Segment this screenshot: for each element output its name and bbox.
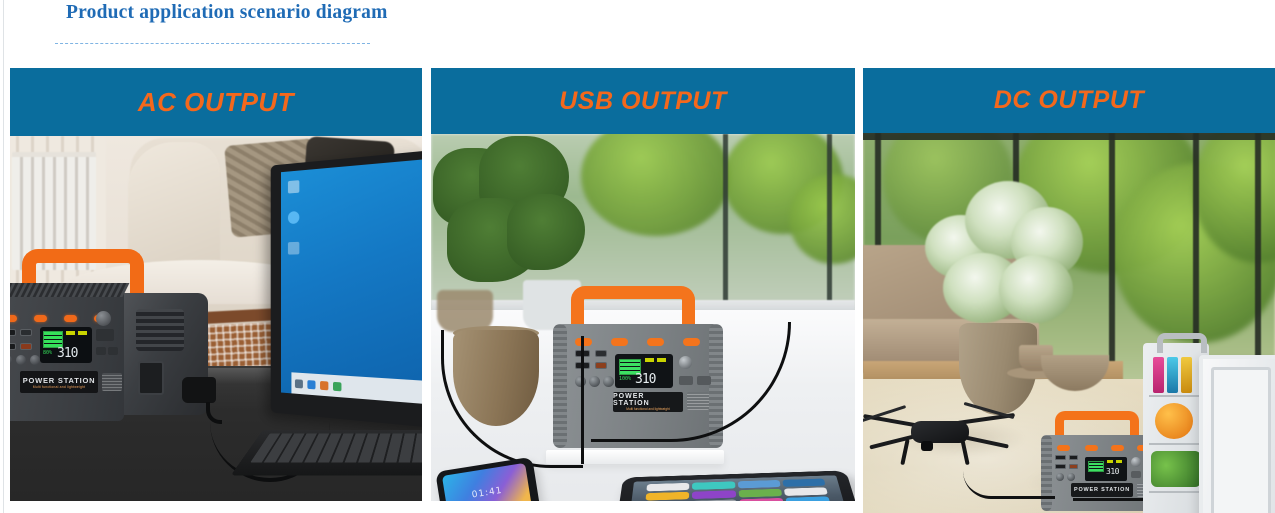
fridge-shelf-3: [1149, 491, 1203, 493]
label-icon-2: [96, 347, 106, 355]
phone-clock: 01:41: [471, 486, 503, 501]
desktop-icon-2: [288, 211, 299, 224]
laptop-lid: [271, 149, 422, 428]
drone-camera: [921, 441, 933, 451]
taskbar-icon-app: [333, 381, 341, 391]
desktop-icon-3: [288, 242, 299, 255]
tablet-app-icon: [692, 481, 735, 490]
tablet-app-icon: [645, 492, 689, 501]
drone-leg-1: [900, 439, 909, 465]
drone-leg-2: [960, 439, 969, 465]
drink-can-2: [1167, 357, 1178, 393]
taskbar-icon-start: [295, 379, 303, 388]
scene-image-dc-output: 310 POWER STATION: [863, 133, 1275, 513]
page-left-rule: [3, 0, 4, 513]
dc-cable-left: [963, 471, 1055, 499]
lcd-display: 80% 310: [40, 327, 92, 363]
laptop: [248, 158, 422, 488]
usb-c-port: [1069, 455, 1078, 460]
brand-subtitle: Multi functional and lightweight: [33, 385, 86, 389]
power-station-ac: 80% 310 POWER STATION Multi functional a…: [10, 249, 210, 419]
laptop-base: [231, 430, 422, 476]
scene-image-usb-output: 100% 310 POWER STATION Multi f: [431, 134, 855, 501]
orange-fruit: [1155, 403, 1193, 439]
lcd-indicator-2: [78, 331, 87, 335]
power-button-2: [34, 315, 47, 322]
tablet-app-icon: [738, 489, 782, 498]
label-icon-1: [96, 329, 114, 341]
fridge-door: [1199, 355, 1275, 513]
brand-name: POWER STATION: [23, 376, 96, 385]
battery-percent: 80%: [43, 350, 52, 356]
taskbar-icon-folder: [320, 380, 328, 389]
drink-can-1: [1153, 357, 1164, 393]
dc-jack-1: [1056, 473, 1064, 481]
station-top-grille: [10, 283, 129, 297]
usb-port-a: [10, 329, 16, 336]
power-button-2: [1085, 445, 1098, 451]
tablet-app-icon: [737, 480, 780, 489]
tablet-app-icon: [692, 490, 736, 499]
cooling-vent: [136, 309, 184, 351]
taskbar: [291, 372, 422, 404]
mode-knob: [96, 311, 111, 326]
taskbar-icon-browser: [307, 380, 315, 389]
dc-jack-2: [16, 355, 26, 365]
phone-screen: 01:41: [442, 463, 532, 501]
drink-can-3: [1181, 357, 1192, 393]
panel-usb-output: USB OUTPUT: [431, 68, 855, 501]
quick-charge-port: [20, 343, 32, 350]
fridge-handle: [1157, 333, 1207, 353]
tablet-app-icon: [739, 498, 784, 501]
usb-port-a: [1055, 455, 1066, 460]
panel-title-usb: USB OUTPUT: [559, 87, 727, 116]
desktop-icon-1: [288, 180, 299, 193]
laptop-keyboard: [250, 433, 422, 462]
panel-title-ac: AC OUTPUT: [138, 87, 294, 118]
panel-header-dc: DC OUTPUT: [863, 68, 1275, 133]
tablet-app-icon: [782, 479, 826, 487]
title-block: Product application scenario diagram: [0, 0, 700, 58]
ac-plug: [182, 377, 216, 403]
panel-header-usb: USB OUTPUT: [431, 68, 855, 134]
green-vegetables: [1151, 451, 1201, 487]
warning-label: [102, 373, 122, 391]
window-head-frame: [863, 133, 1275, 140]
fridge-door-panel: [1211, 367, 1271, 513]
tablet-screen: [627, 475, 851, 501]
fridge-shelf-2: [1149, 443, 1203, 445]
panel-dc-output: DC OUTPUT: [863, 68, 1275, 513]
lcd-indicator-1: [66, 331, 75, 335]
label-icon-3: [108, 347, 118, 355]
bush-part-5: [999, 255, 1073, 323]
mode-knob: [1131, 457, 1141, 467]
usb-port-b: [10, 343, 16, 350]
watt-reading: 310: [57, 346, 77, 361]
leaf-clump-4: [507, 194, 585, 270]
fridge-shelf-1: [1149, 395, 1203, 397]
page-title: Product application scenario diagram: [66, 2, 388, 24]
mini-fridge: [1143, 343, 1275, 513]
brand-plate: POWER STATION Multi functional and light…: [20, 371, 98, 393]
tablet-app-icon: [692, 500, 736, 501]
scene-image-ac-output: 80% 310 POWER STATION Multi functional a…: [10, 136, 422, 501]
tablet-app-icon: [785, 497, 830, 501]
tablet-app-icon: [784, 487, 828, 496]
lcd-indicator-1: [1107, 460, 1113, 463]
panel-ac-output: AC OUTPUT: [10, 68, 422, 501]
panel-header-ac: AC OUTPUT: [10, 68, 422, 136]
usb-c-port: [20, 329, 32, 336]
panel-title-dc: DC OUTPUT: [994, 86, 1144, 115]
usb-port-b: [1055, 464, 1066, 469]
power-button-3: [1111, 445, 1124, 451]
quick-charge-port: [1069, 464, 1078, 469]
power-button-1: [10, 315, 17, 322]
window-mullion-2: [827, 134, 832, 312]
window-mullion-1: [723, 134, 728, 312]
white-flowering-plant: [925, 181, 1085, 331]
lcd-indicator-2: [1116, 460, 1122, 463]
power-button-3: [64, 315, 77, 322]
ac-socket: [138, 361, 164, 395]
laptop-screen: [281, 159, 422, 405]
title-divider: [55, 43, 370, 44]
power-button-1: [1057, 445, 1070, 451]
tablet-app-icon: [646, 483, 689, 492]
dc-jack-3: [30, 355, 40, 365]
scenario-diagram-page: Product application scenario diagram AC …: [0, 0, 1275, 513]
